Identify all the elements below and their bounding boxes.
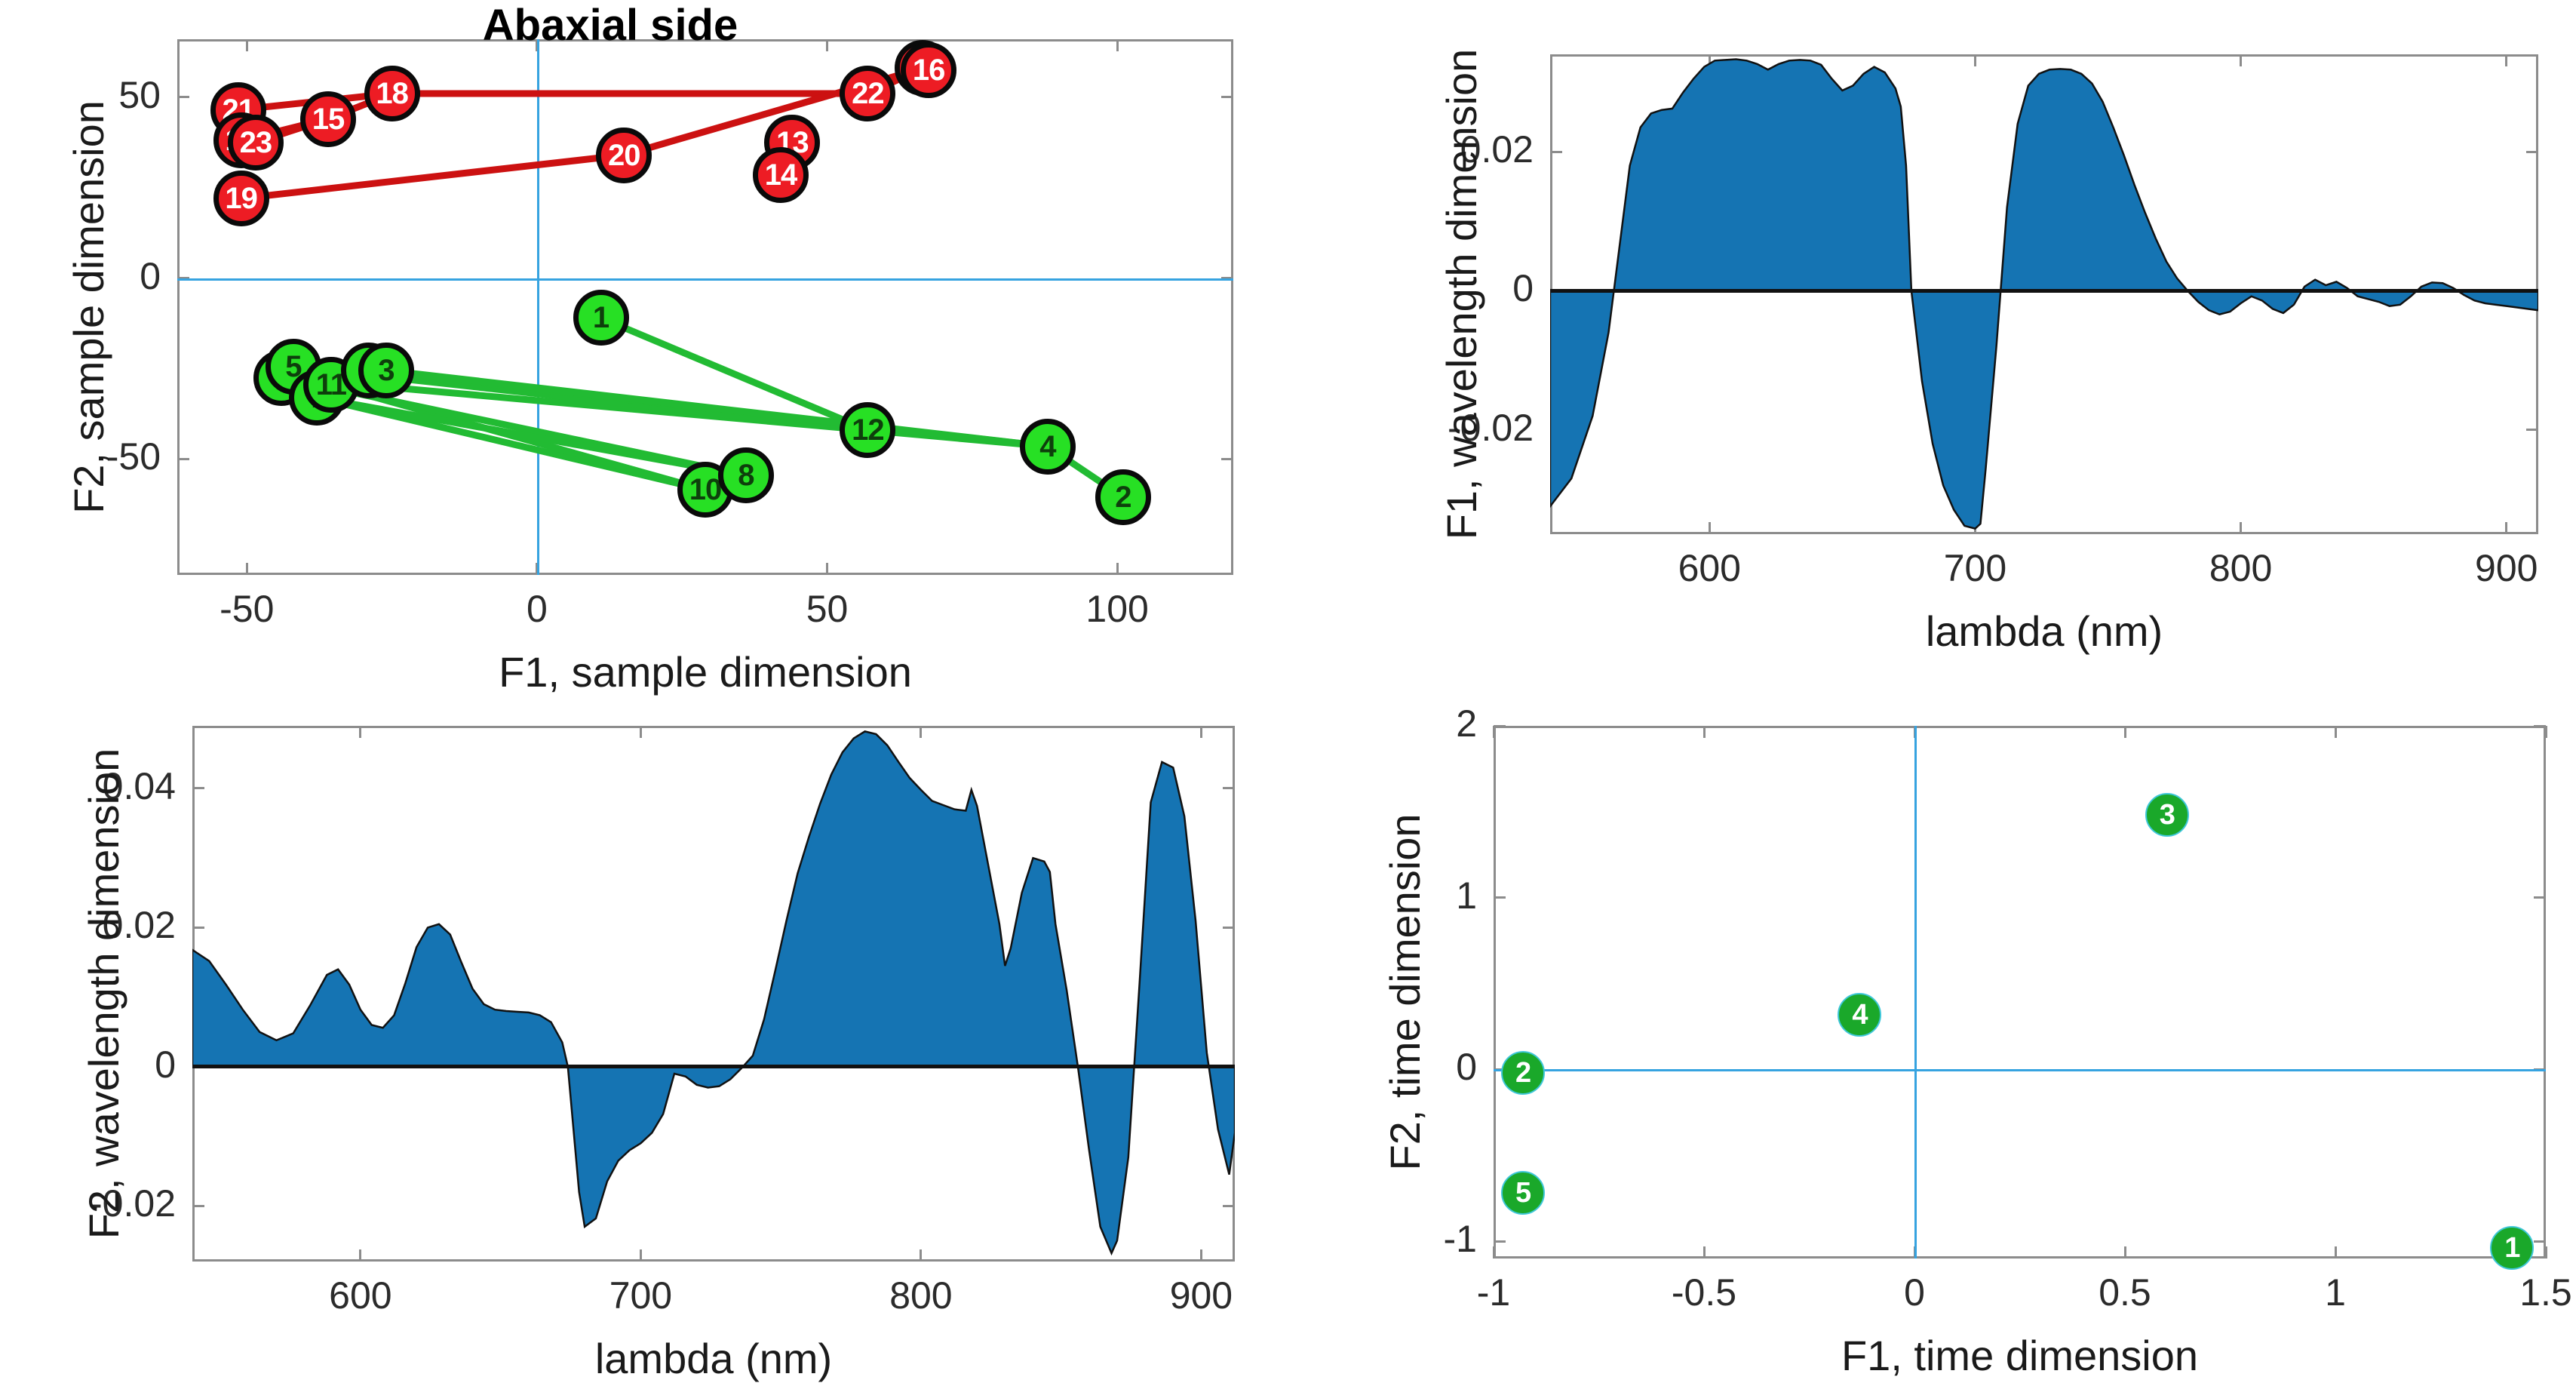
figure-canvas: 500-50-50050100F1, sample dimensionF2, s… [0, 0, 2576, 1358]
x-ticklabel-bottom-right: 1.5 [2470, 1271, 2576, 1314]
y-axis-title-bottom-right: F2, time dimension [1380, 813, 1429, 1170]
x-ticklabel-bottom-right: -1 [1418, 1271, 1569, 1314]
y-ticklabel-bottom-right: 2 [1456, 702, 1477, 745]
x-axis-title-bottom-right: F1, time dimension [1841, 1331, 2198, 1380]
y-tick-right-bottom-right [2534, 1240, 2546, 1243]
x-ticklabel-bottom-right: 0.5 [2049, 1271, 2200, 1314]
x-tick-top-bottom-right [1703, 726, 1706, 738]
y-ticklabel-bottom-right: -1 [1444, 1217, 1477, 1261]
scatter-marker[interactable]: 2 [1501, 1051, 1545, 1095]
zero-line-vertical-bottom-right [1914, 726, 1917, 1259]
x-tick-top-bottom-right [1493, 726, 1495, 738]
y-ticklabel-bottom-right: 1 [1456, 874, 1477, 917]
x-tick-bottom-right [1703, 1246, 1706, 1259]
panel-bottom-right: 210-1-1-0.500.511.5F1, time dimensionF2,… [0, 0, 2576, 1358]
y-tick-bottom-right [1494, 896, 1506, 899]
x-tick-top-bottom-right [2124, 726, 2126, 738]
x-tick-bottom-right [2335, 1246, 2337, 1259]
y-ticklabel-bottom-right: 0 [1456, 1045, 1477, 1089]
zero-line-horizontal-bottom-right [1494, 1069, 2546, 1071]
scatter-marker[interactable]: 3 [2145, 793, 2189, 837]
scatter-marker[interactable]: 4 [1838, 993, 1881, 1037]
x-tick-top-bottom-right [2545, 726, 2547, 738]
x-tick-bottom-right [2545, 1246, 2547, 1259]
x-tick-top-bottom-right [2335, 726, 2337, 738]
scatter-marker[interactable]: 1 [2490, 1226, 2534, 1270]
y-tick-bottom-right [1494, 1240, 1506, 1243]
x-ticklabel-bottom-right: 1 [2260, 1271, 2411, 1314]
x-ticklabel-bottom-right: 0 [1839, 1271, 1990, 1314]
x-tick-bottom-right [2124, 1246, 2126, 1259]
x-tick-bottom-right [1493, 1246, 1495, 1259]
axes-frame-bottom-right [1494, 726, 2546, 1259]
x-ticklabel-bottom-right: -0.5 [1629, 1271, 1779, 1314]
y-tick-right-bottom-right [2534, 896, 2546, 899]
y-tick-bottom-right [1494, 725, 1506, 727]
